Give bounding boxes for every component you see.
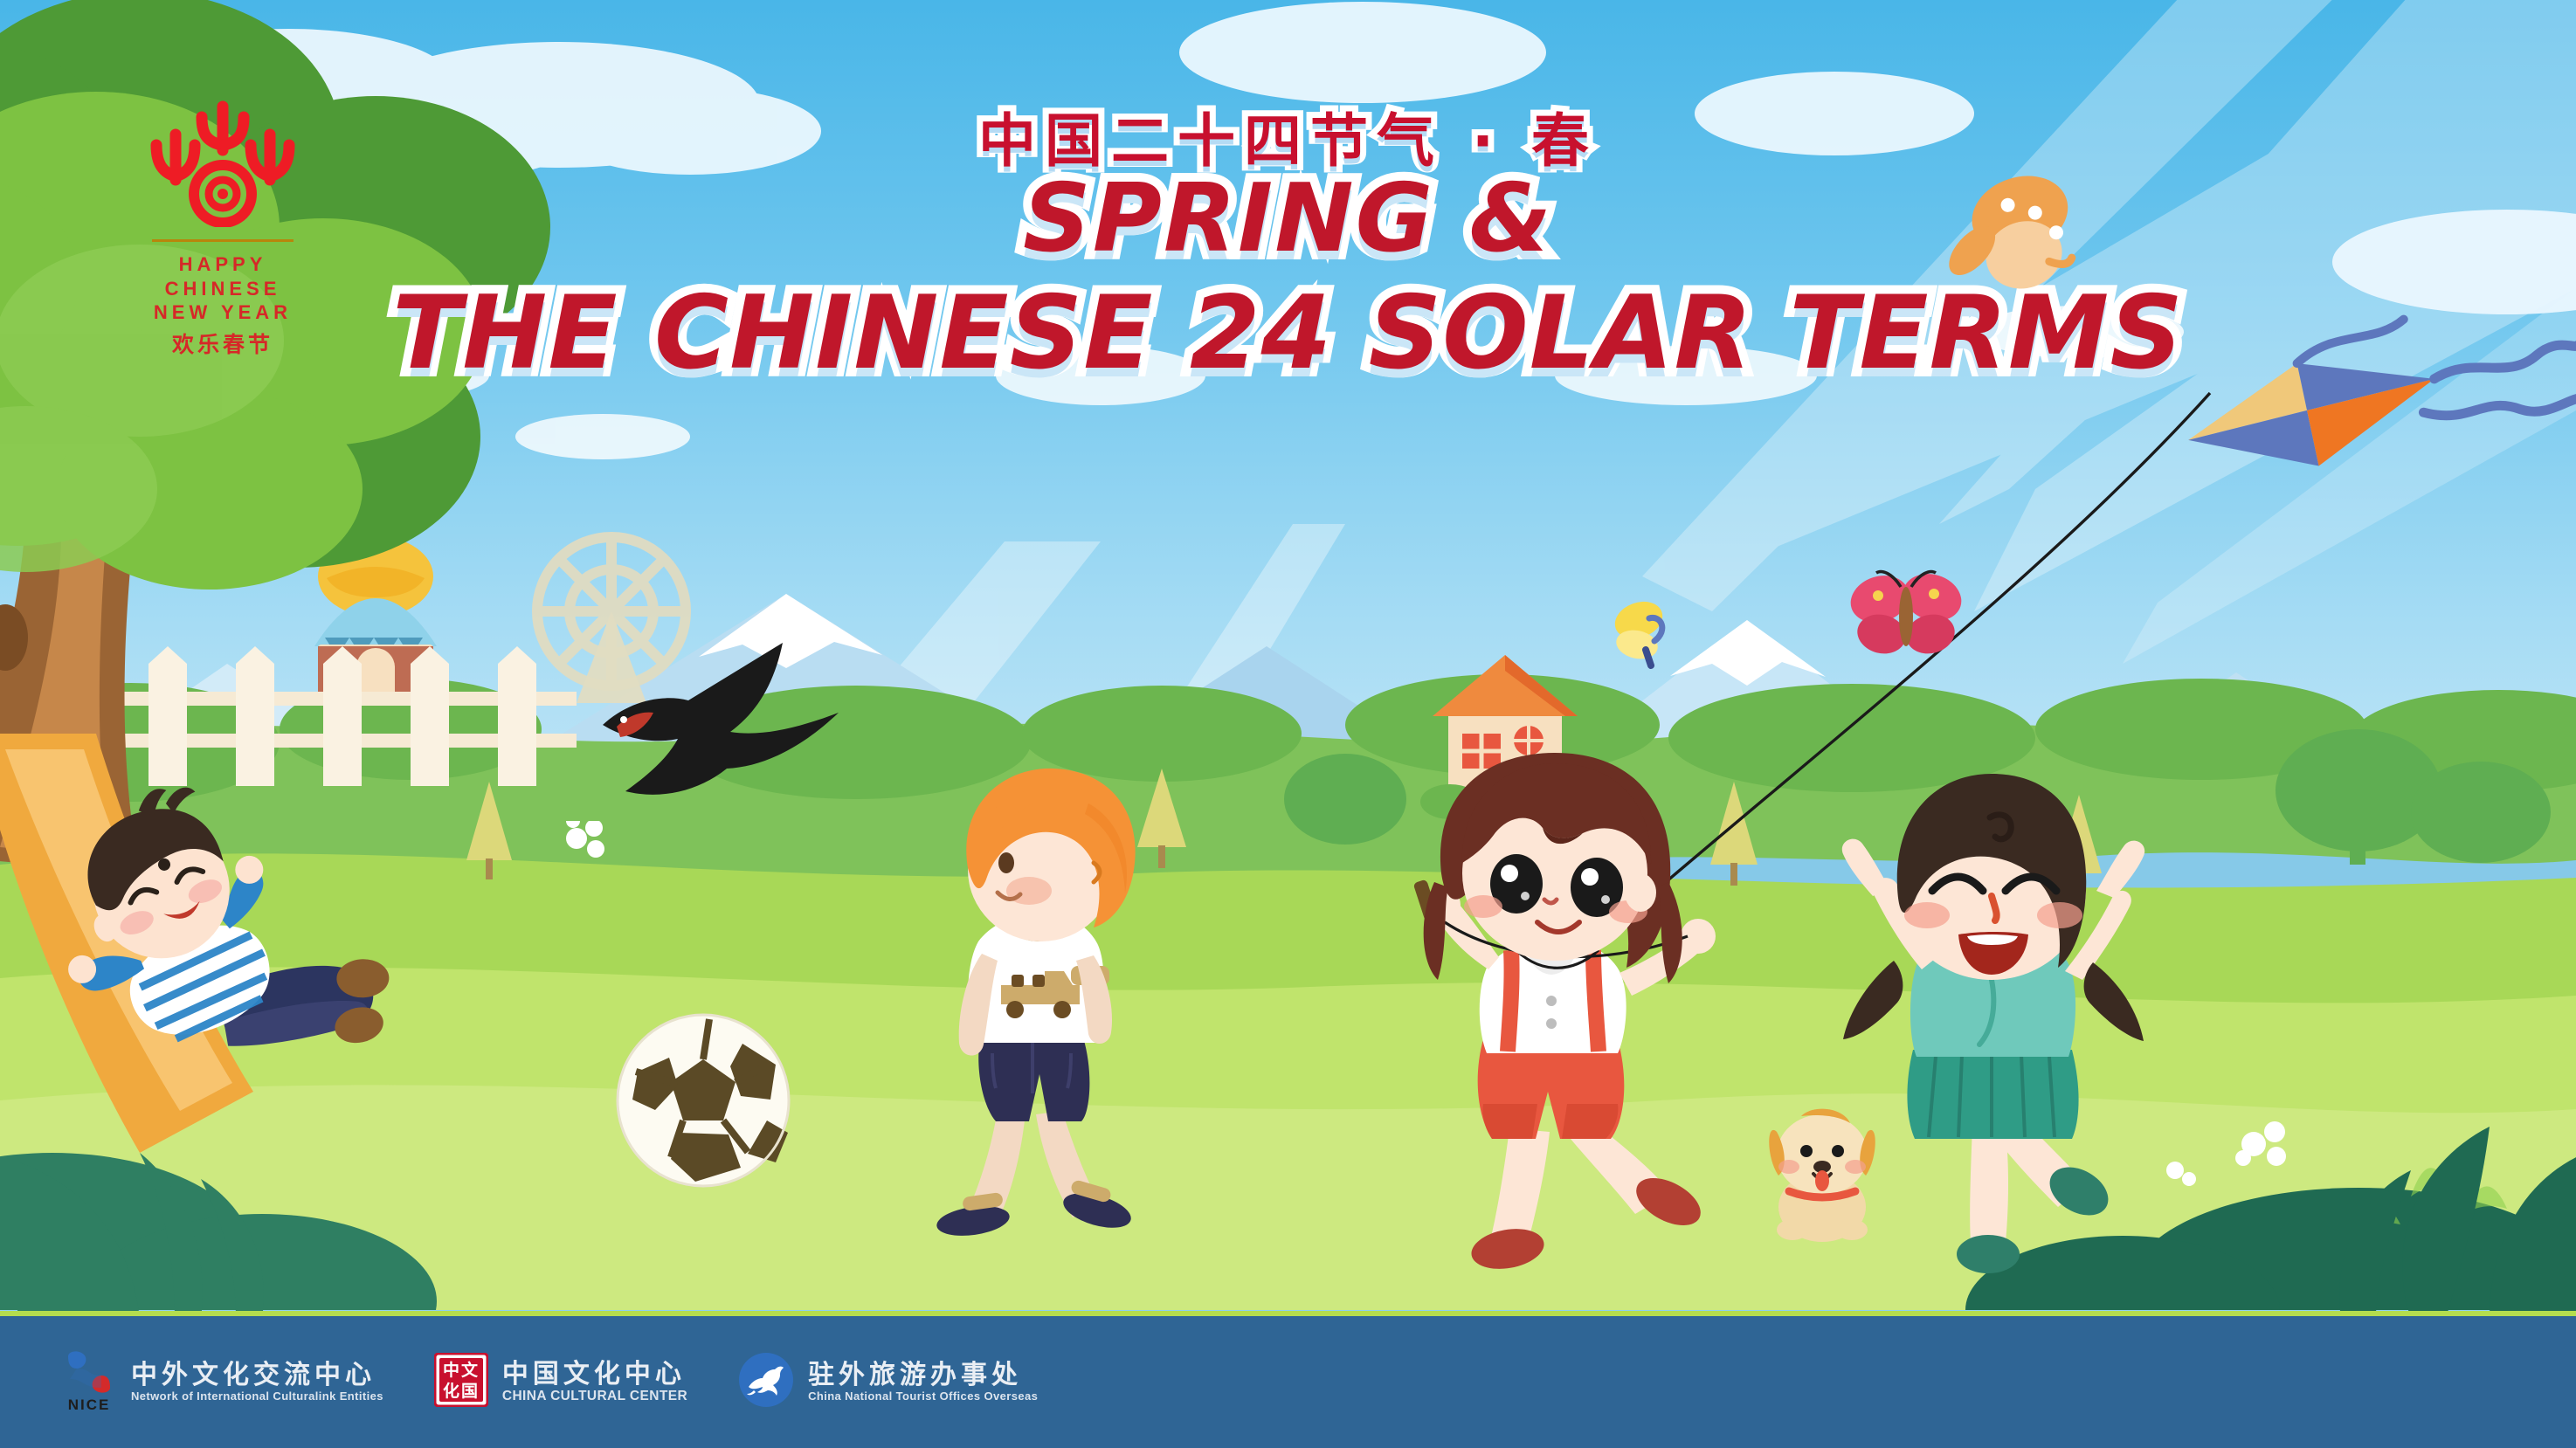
- poster-canvas: HAPPY CHINESE NEW YEAR 欢乐春节 中国二十四节气 · 春 …: [0, 0, 2576, 1448]
- nice-abbr: NICE: [68, 1396, 111, 1414]
- foreground-leaves-right: [2306, 1031, 2576, 1319]
- ccc-name-cn: 中国文化中心: [502, 1360, 687, 1389]
- logo-divider: [152, 239, 294, 242]
- china-cultural-center-seal-icon: 中文 化国: [434, 1353, 488, 1411]
- kite: [2131, 310, 2576, 520]
- logo-line-2: CHINESE: [140, 277, 306, 301]
- nice-swirl-logo-icon: NICE: [61, 1349, 117, 1414]
- svg-text:文: 文: [461, 1360, 479, 1380]
- foreground-leaves-left: [0, 1039, 288, 1319]
- footer-logo-china-cultural-center[interactable]: 中文 化国 中国文化中心 CHINA CULTURAL CENTER: [434, 1353, 687, 1411]
- logo-line-3: NEW YEAR: [140, 300, 306, 325]
- flying-horse-logo-icon: [738, 1352, 794, 1412]
- swallow-bird: [577, 629, 856, 830]
- cnto-name-en: China National Tourist Offices Overseas: [808, 1390, 1038, 1403]
- happy-chinese-new-year-logo: HAPPY CHINESE NEW YEAR 欢乐春节: [140, 96, 306, 359]
- footer-logo-nice[interactable]: NICE 中外文化交流中心 Network of International C…: [61, 1349, 383, 1414]
- nice-name-en: Network of International Culturalink Ent…: [131, 1390, 383, 1403]
- logo-line-1: HAPPY: [140, 252, 306, 277]
- svg-text:国: 国: [461, 1382, 478, 1401]
- cnto-name-cn: 驻外旅游办事处: [808, 1361, 1038, 1390]
- svg-text:化: 化: [443, 1381, 459, 1401]
- chun-spring-character-icon: [140, 96, 306, 227]
- butterfly-yellow-icon: [1599, 594, 1695, 681]
- logo-line-chinese: 欢乐春节: [140, 328, 306, 359]
- footer-bar: NICE 中外文化交流中心 Network of International C…: [0, 1311, 2576, 1448]
- title-line-1: SPRING &: [0, 170, 2576, 267]
- butterfly-pink-icon: [1843, 568, 1965, 672]
- svg-text:中: 中: [443, 1360, 459, 1380]
- butterfly-orange-icon: [1935, 162, 2101, 310]
- ccc-name-en: CHINA CULTURAL CENTER: [502, 1389, 687, 1403]
- nice-name-cn: 中外文化交流中心: [131, 1361, 383, 1390]
- footer-logo-cnto[interactable]: 驻外旅游办事处 China National Tourist Offices O…: [738, 1352, 1038, 1412]
- grass-flowers: [0, 821, 2576, 1275]
